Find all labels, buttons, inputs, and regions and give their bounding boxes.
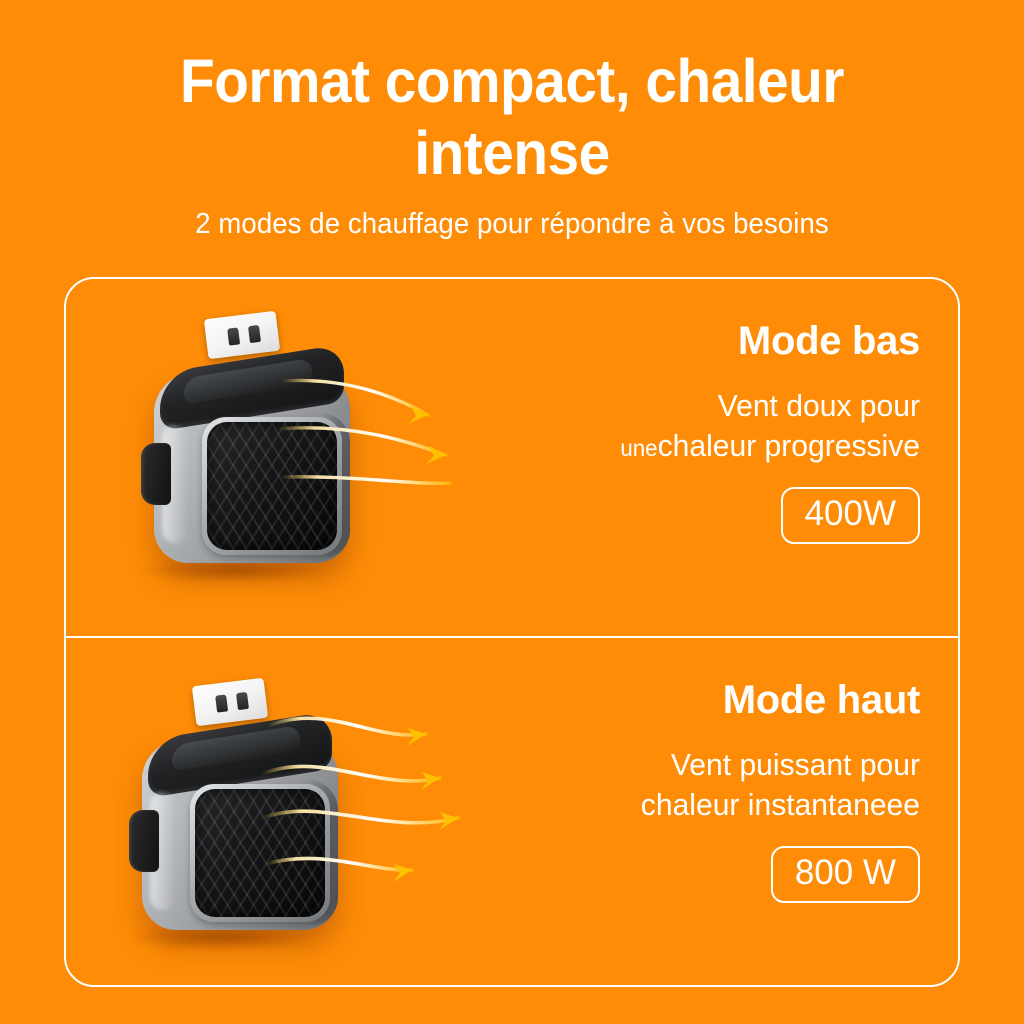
mode-description-high-line1: Vent puissant pour xyxy=(513,745,920,785)
header: Format compact, chaleur intense 2 modes … xyxy=(0,46,1024,241)
plug-prongs-icon xyxy=(204,311,280,359)
heater-grille-bezel xyxy=(202,417,342,555)
page-subtitle: 2 modes de chauffage pour répondre à vos… xyxy=(26,208,999,241)
prong-left xyxy=(227,327,240,345)
mode-description-low-line2-main: chaleur progressive xyxy=(658,428,920,463)
heater-grille-mesh xyxy=(207,422,337,550)
mode-text-low: Mode bas Vent doux pour unechaleur progr… xyxy=(500,319,920,544)
mode-description-low: Vent doux pour unechaleur progressive xyxy=(513,386,920,465)
modes-card: Mode bas Vent doux pour unechaleur progr… xyxy=(64,277,960,987)
plug-prongs-icon xyxy=(192,678,268,726)
mode-title-low: Mode bas xyxy=(500,319,920,364)
mode-row-low: Mode bas Vent doux pour unechaleur progr… xyxy=(66,279,962,636)
mode-description-low-line2: unechaleur progressive xyxy=(513,426,920,466)
mode-row-high: Mode haut Vent puissant pour chaleur ins… xyxy=(66,638,962,995)
heater-control-knob xyxy=(141,443,171,505)
prong-left xyxy=(215,694,228,712)
mode-description-high-line2: chaleur instantaneee xyxy=(513,785,920,825)
heater-grille-bezel xyxy=(190,784,330,922)
device-illustration-high xyxy=(96,656,426,986)
heater-top-ridge xyxy=(172,725,300,771)
device-illustration-low xyxy=(108,289,438,619)
mode-title-high: Mode haut xyxy=(500,678,920,723)
mode-description-low-line2-prefix: une xyxy=(620,435,657,461)
mode-description-low-line1: Vent doux pour xyxy=(513,386,920,426)
power-badge-high: 800 W xyxy=(771,846,920,902)
mode-description-high: Vent puissant pour chaleur instantaneee xyxy=(513,745,920,824)
heater-grille-mesh xyxy=(195,789,325,917)
power-badge-wrap-high: 800 W xyxy=(500,846,920,902)
prong-right xyxy=(248,325,261,343)
infographic-page: Format compact, chaleur intense 2 modes … xyxy=(0,0,1024,1024)
mode-text-high: Mode haut Vent puissant pour chaleur ins… xyxy=(500,678,920,903)
heater-control-knob xyxy=(129,810,159,872)
power-badge-low: 400W xyxy=(781,487,920,543)
page-title: Format compact, chaleur intense xyxy=(36,46,988,190)
mini-space-heater-icon xyxy=(154,351,350,563)
power-badge-wrap-low: 400W xyxy=(500,487,920,543)
mini-space-heater-icon xyxy=(142,718,338,930)
heater-top-ridge xyxy=(184,358,312,404)
prong-right xyxy=(236,692,249,710)
